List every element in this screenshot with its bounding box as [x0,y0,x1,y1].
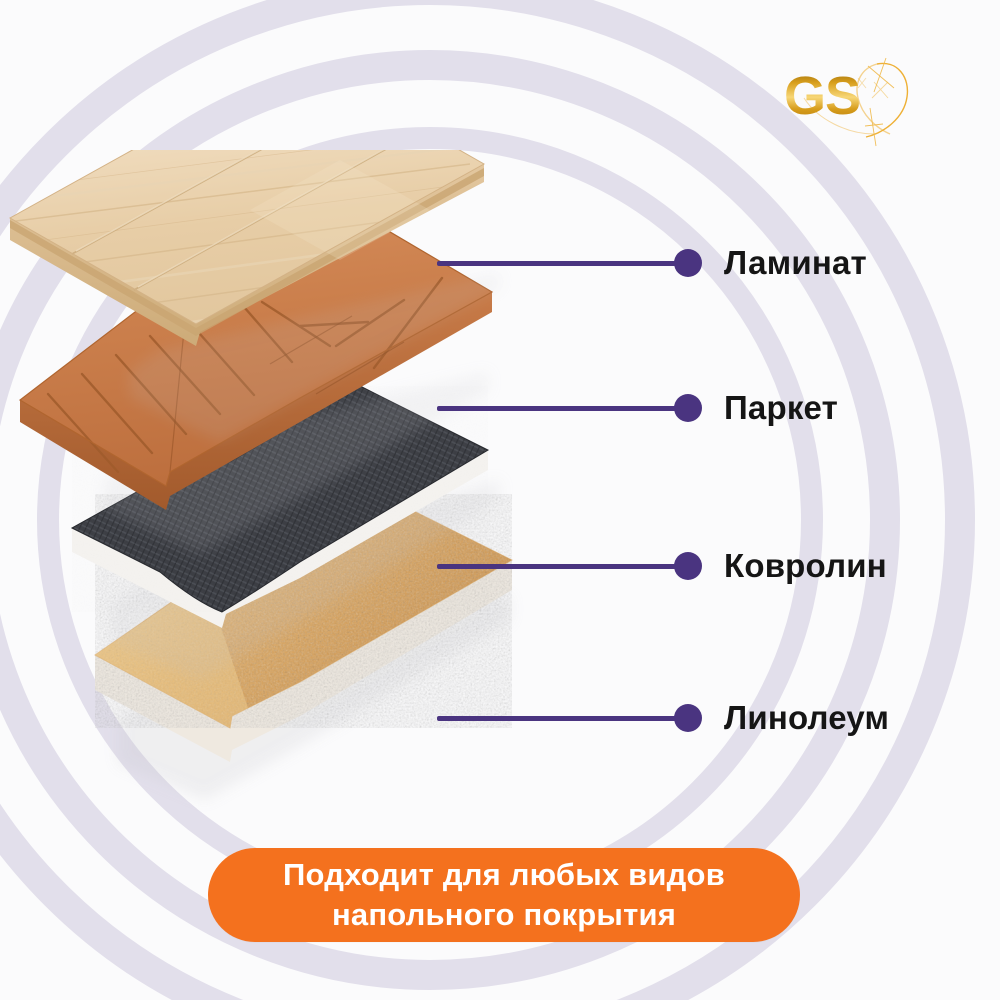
leader-line [437,716,677,721]
callout-dot-icon [674,552,702,580]
callout-linoleum: Линолеум [437,698,889,738]
logo-wordmark: GS [784,66,860,126]
leader-line [437,261,677,266]
gs-logo: GS [770,42,945,152]
callout-carpet: Ковролин [437,546,887,586]
callout-parquet: Паркет [437,388,838,428]
infographic-canvas: GS [0,0,1000,1000]
banner-line-1: Подходит для любых видов [283,855,725,895]
callout-dot-icon [674,704,702,732]
callout-laminate: Ламинат [437,243,867,283]
callout-label-laminate: Ламинат [724,244,867,282]
banner-line-2: напольного покрытия [332,895,676,935]
leader-line [437,564,677,569]
suitability-banner: Подходит для любых видов напольного покр… [208,848,800,942]
leader-line [437,406,677,411]
callout-dot-icon [674,249,702,277]
callout-label-carpet: Ковролин [724,547,887,585]
callout-dot-icon [674,394,702,422]
callout-label-linoleum: Линолеум [724,699,889,737]
callout-label-parquet: Паркет [724,389,838,427]
